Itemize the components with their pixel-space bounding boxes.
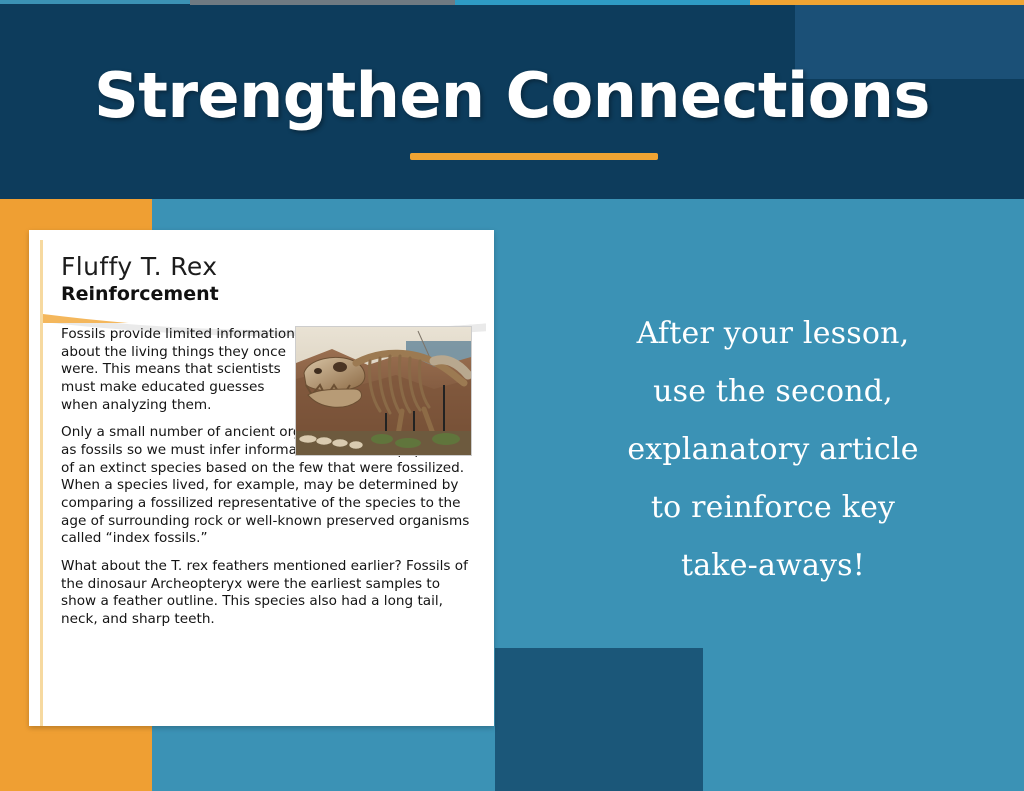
article-card[interactable]: Fluffy T. Rex Reinforcement [29,230,494,726]
background-navy-bottom-block [495,648,703,791]
article-title: Fluffy T. Rex [61,252,486,281]
callout-text: After your lesson, use the second, expla… [548,305,998,594]
top-strip-teal [455,0,750,5]
t-rex-skeleton-photo [295,326,472,456]
article-card-body: Fossils provide limited information abou… [43,318,486,629]
top-strip-gray [190,0,455,5]
article-paragraph: Fossils provide limited information abou… [61,326,299,414]
article-card-inner: Fluffy T. Rex Reinforcement [40,240,486,726]
callout-line: to reinforce key [548,479,998,537]
callout-line: use the second, [548,363,998,421]
callout-line: explanatory article [548,421,998,479]
article-subtitle: Reinforcement [61,283,486,305]
article-paragraph: What about the T. rex feathers mentioned… [61,558,472,629]
article-card-header: Fluffy T. Rex Reinforcement [43,240,486,318]
slide-canvas: Strengthen Connections Fluffy T. Rex Rei… [0,0,1024,791]
title-underline-rule [410,153,658,160]
callout-line: take-aways! [548,537,998,595]
top-strip-orange [750,0,1024,5]
callout-line: After your lesson, [548,305,998,363]
page-title: Strengthen Connections [0,63,1024,128]
